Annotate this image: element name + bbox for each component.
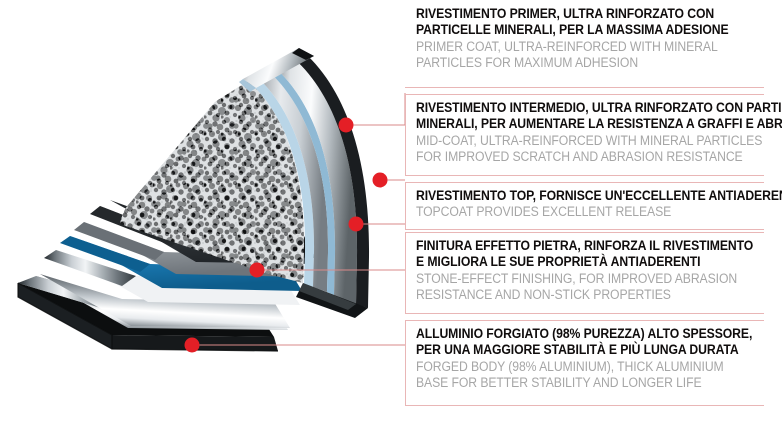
callout-en-line: PRIMER COAT, ULTRA-REINFORCED WITH MINER… [416,39,731,55]
callout-divider [405,313,764,314]
callout-en-line: FOR IMPROVED SCRATCH AND ABRASION RESIST… [416,149,731,165]
callout-bracket [405,232,406,314]
callout-en-line: RESISTANCE AND NON-STICK PROPERTIES [416,287,731,303]
callout-topcoat[interactable]: RIVESTIMENTO TOP, FORNISCE UN'ECCELLENTE… [400,182,782,230]
callout-bracket [405,182,406,230]
callout-forged-aluminium-body[interactable]: ALLUMINIO FORGIATO (98% PUREZZA) ALTO SP… [400,320,782,406]
callout-divider [405,87,764,88]
callout-en-line: STONE-EFFECT FINISHING, FOR IMPROVED ABR… [416,271,731,287]
callout-it-line: PARTICELLE MINERALI, PER LA MASSIMA ADES… [416,22,731,38]
diagram-canvas: RIVESTIMENTO PRIMER, ULTRA RINFORZATO CO… [0,0,782,428]
callout-mid-coat[interactable]: RIVESTIMENTO INTERMEDIO, ULTRA RINFORZAT… [400,94,782,176]
cookware-cross-section-illustration [0,0,420,428]
callout-en-line: TOPCOAT PROVIDES EXCELLENT RELEASE [416,204,731,220]
callout-it-line: FINITURA EFFETTO PIETRA, RINFORZA IL RIV… [416,238,731,254]
callout-it-line: ALLUMINIO FORGIATO (98% PUREZZA) ALTO SP… [416,326,731,342]
callout-it-line: RIVESTIMENTO TOP, FORNISCE UN'ECCELLENTE… [416,188,731,204]
callout-stone-effect-finish[interactable]: FINITURA EFFETTO PIETRA, RINFORZA IL RIV… [400,232,782,314]
callout-it-line: MINERALI, PER AUMENTARE LA RESISTENZA A … [416,116,731,132]
callout-divider [405,229,764,230]
callout-bracket [405,94,406,176]
callout-divider [405,320,764,321]
callout-en-line: MID-COAT, ULTRA-REINFORCED WITH MINERAL … [416,133,731,149]
callout-it-line: RIVESTIMENTO INTERMEDIO, ULTRA RINFORZAT… [416,100,731,116]
callout-divider [405,182,764,183]
callout-bracket [405,320,406,406]
callout-divider [405,175,764,176]
callout-en-line: PARTICLES FOR MAXIMUM ADHESION [416,55,731,71]
callout-primer-coat[interactable]: RIVESTIMENTO PRIMER, ULTRA RINFORZATO CO… [400,6,782,88]
callout-divider [405,94,764,95]
callout-it-line: E MIGLIORA LE SUE PROPRIETÀ ANTIADERENTI [416,254,731,270]
callout-divider [405,405,764,406]
callout-en-line: FORGED BODY (98% ALUMINIUM), THICK ALUMI… [416,359,731,375]
callout-divider [405,232,764,233]
callout-list: RIVESTIMENTO PRIMER, ULTRA RINFORZATO CO… [400,0,782,428]
callout-en-line: BASE FOR BETTER STABILITY AND LONGER LIF… [416,375,731,391]
callout-it-line: PER UNA MAGGIORE STABILITÀ E PIÙ LUNGA D… [416,342,731,358]
callout-it-line: RIVESTIMENTO PRIMER, ULTRA RINFORZATO CO… [416,6,731,22]
